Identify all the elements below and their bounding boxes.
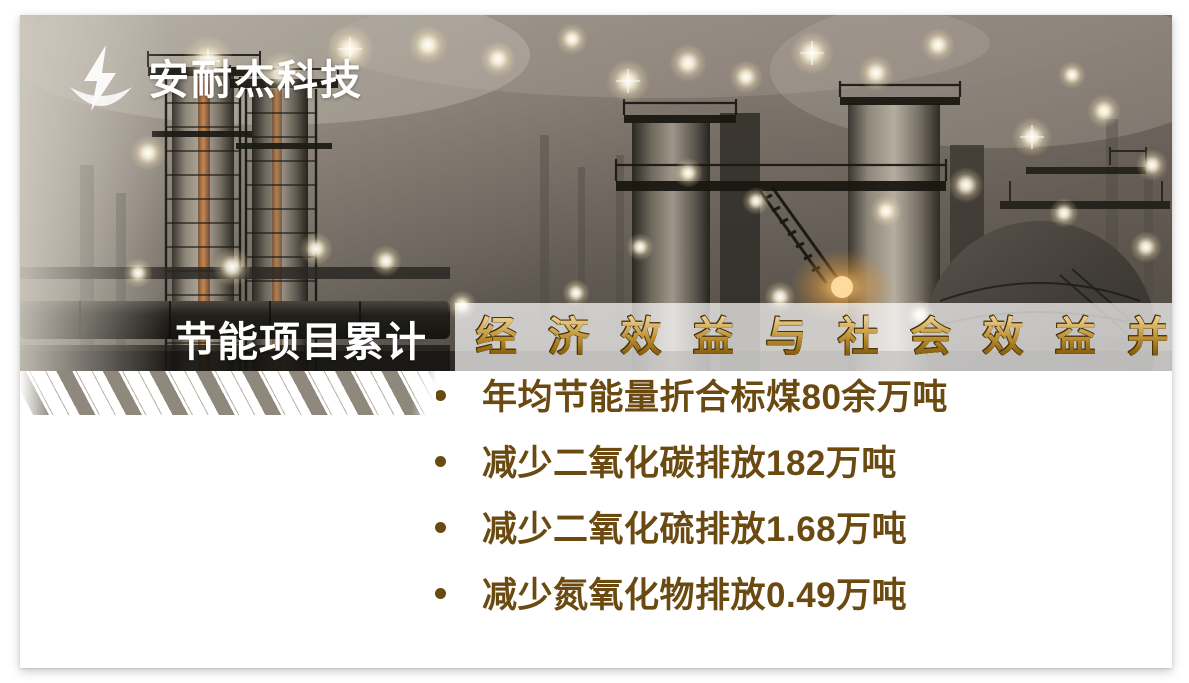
lightning-bolt-arc-icon: [68, 43, 134, 117]
list-item-label: 减少二氧化硫排放1.68万吨: [482, 512, 907, 547]
screenshot-root: 安耐杰科技 节能项目累计 经 济 效 益 与 社 会 效 益 并 举 年均节能量…: [0, 0, 1189, 683]
page-title: 经 济 效 益 与 社 会 效 益 并 举: [476, 311, 1172, 363]
list-item: 减少氮氧化物排放0.49万吨: [435, 578, 1155, 644]
stripe-fade-left: [20, 371, 50, 415]
bullet-dot-icon: [435, 390, 446, 401]
bullet-dot-icon: [435, 456, 446, 467]
bullet-dot-icon: [435, 522, 446, 533]
list-item-label: 减少二氧化碳排放182万吨: [482, 446, 897, 481]
bullet-dot-icon: [435, 588, 446, 599]
stripe-pattern: [20, 371, 436, 415]
company-name: 安耐杰科技: [148, 60, 363, 101]
bullet-list: 年均节能量折合标煤80余万吨 减少二氧化碳排放182万吨 减少二氧化硫排放1.6…: [435, 380, 1155, 644]
left-heading: 节能项目累计: [175, 322, 427, 363]
list-item: 减少二氧化碳排放182万吨: [435, 446, 1155, 512]
list-item-label: 减少氮氧化物排放0.49万吨: [482, 578, 907, 613]
list-item: 年均节能量折合标煤80余万吨: [435, 380, 1155, 446]
slide-canvas: 安耐杰科技 节能项目累计 经 济 效 益 与 社 会 效 益 并 举 年均节能量…: [20, 15, 1172, 668]
stripe-fade-right: [412, 371, 436, 415]
company-logo: 安耐杰科技: [68, 43, 363, 117]
list-item-label: 年均节能量折合标煤80余万吨: [482, 380, 948, 415]
diagonal-stripe-band: [20, 371, 436, 415]
list-item: 减少二氧化硫排放1.68万吨: [435, 512, 1155, 578]
